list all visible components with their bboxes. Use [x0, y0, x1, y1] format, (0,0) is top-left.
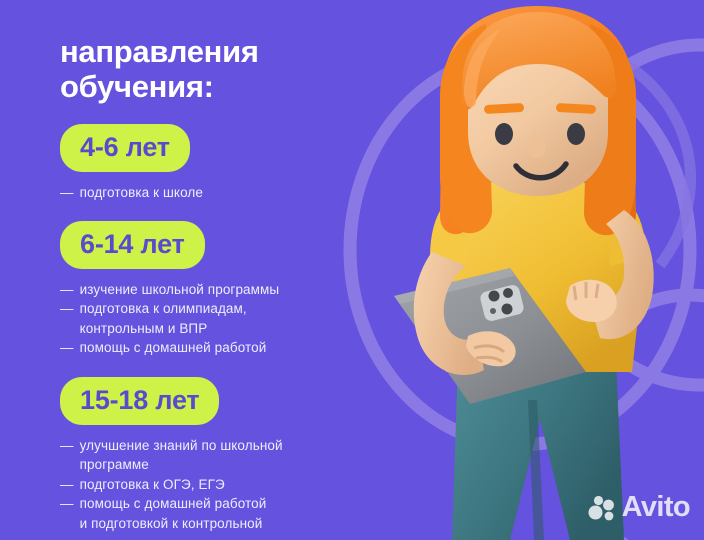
- list-item-label: подготовка к ОГЭ, ЕГЭ: [80, 475, 225, 495]
- list-item-label: помощь с домашней работой и подготовкой …: [80, 494, 267, 533]
- feature-list-15-18: — улучшение знаний по школьной программе…: [60, 436, 420, 534]
- dash-icon: —: [60, 338, 74, 358]
- feature-list-6-14: — изучение школьной программы — подготов…: [60, 280, 420, 358]
- list-item: — помощь с домашней работой: [60, 338, 420, 358]
- page-title: направления обучения:: [60, 34, 420, 104]
- dash-icon: —: [60, 436, 74, 475]
- dash-icon: —: [60, 475, 74, 495]
- feature-list-4-6: — подготовка к школе: [60, 183, 420, 203]
- content-column: направления обучения: 4-6 лет — подготов…: [0, 0, 420, 540]
- age-group-4-6: 4-6 лет — подготовка к школе: [60, 124, 420, 203]
- promo-poster: направления обучения: 4-6 лет — подготов…: [0, 0, 704, 540]
- list-item: — подготовка к школе: [60, 183, 420, 203]
- age-group-6-14: 6-14 лет — изучение школьной программы —…: [60, 221, 420, 358]
- list-item-label: подготовка к олимпиадам, контрольным и В…: [80, 299, 247, 338]
- age-badge-15-18[interactable]: 15-18 лет: [60, 377, 219, 425]
- avito-wordmark: Avito: [622, 493, 690, 522]
- list-item-label: помощь с домашней работой: [80, 338, 267, 358]
- girl-with-tablet-illustration: [374, 0, 704, 540]
- avito-dots-icon: [587, 494, 615, 522]
- age-badge-4-6[interactable]: 4-6 лет: [60, 124, 190, 172]
- list-item-label: улучшение знаний по школьной программе: [80, 436, 283, 475]
- list-item: — помощь с домашней работой и подготовко…: [60, 494, 420, 533]
- list-item-label: подготовка к школе: [80, 183, 203, 203]
- dash-icon: —: [60, 494, 74, 533]
- list-item: — подготовка к ОГЭ, ЕГЭ: [60, 475, 420, 495]
- dash-icon: —: [60, 299, 74, 338]
- dash-icon: —: [60, 183, 74, 203]
- age-badge-6-14[interactable]: 6-14 лет: [60, 221, 205, 269]
- list-item: — улучшение знаний по школьной программе: [60, 436, 420, 475]
- list-item: — изучение школьной программы: [60, 280, 420, 300]
- avito-watermark: Avito: [587, 493, 690, 522]
- age-group-15-18: 15-18 лет — улучшение знаний по школьной…: [60, 377, 420, 534]
- list-item-label: изучение школьной программы: [80, 280, 280, 300]
- dash-icon: —: [60, 280, 74, 300]
- list-item: — подготовка к олимпиадам, контрольным и…: [60, 299, 420, 338]
